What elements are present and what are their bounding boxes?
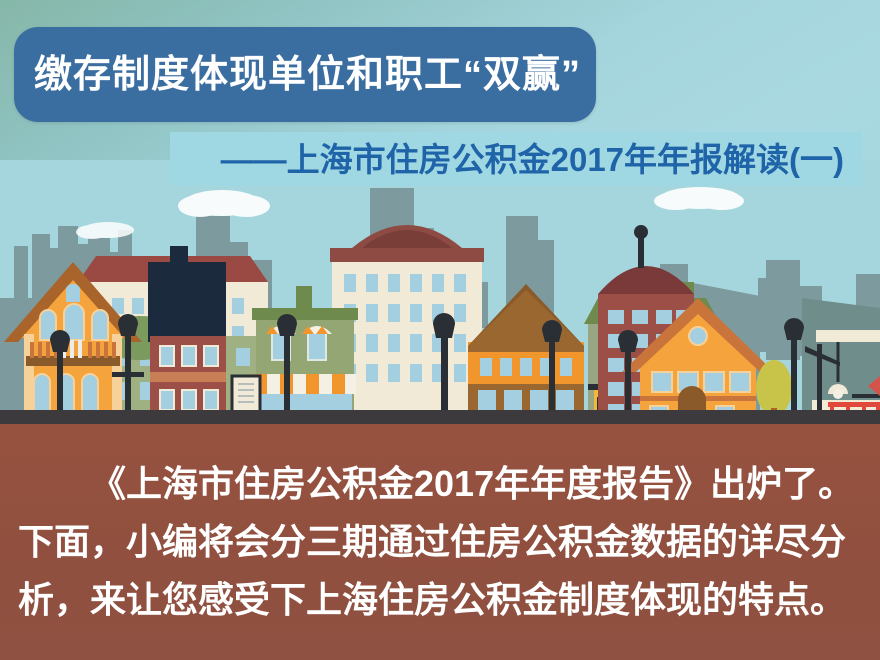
- page-title: 缴存制度体现单位和职工“双赢”: [14, 56, 581, 94]
- title-banner: 缴存制度体现单位和职工“双赢”: [14, 27, 596, 122]
- cafe-terrace: [796, 298, 880, 424]
- body-text-panel: 《上海市住房公积金2017年年度报告》出炉了。 下面，小编将会分三期通过住房公积…: [0, 424, 880, 660]
- subtitle-band: ——上海市住房公积金2017年年报解读(一): [170, 132, 862, 187]
- city-street-illustration: [0, 186, 880, 424]
- body-line-2: 下面，小编将会分三期通过住房公积金数据的详尽分: [18, 513, 862, 571]
- body-line-1: 《上海市住房公积金2017年年度报告》出炉了。: [18, 455, 862, 513]
- navy-roof-brick-building: [148, 246, 228, 424]
- page-subtitle: ——上海市住房公积金2017年年报解读(一): [221, 143, 862, 176]
- street-strip: [0, 410, 880, 424]
- shop-awning-striped: [254, 374, 356, 394]
- poster-root: 缴存制度体现单位和职工“双赢” ——上海市住房公积金2017年年报解读(一): [0, 0, 880, 660]
- body-line-3: 析，来让您感受下上海住房公积金制度体现的特点。: [18, 571, 862, 629]
